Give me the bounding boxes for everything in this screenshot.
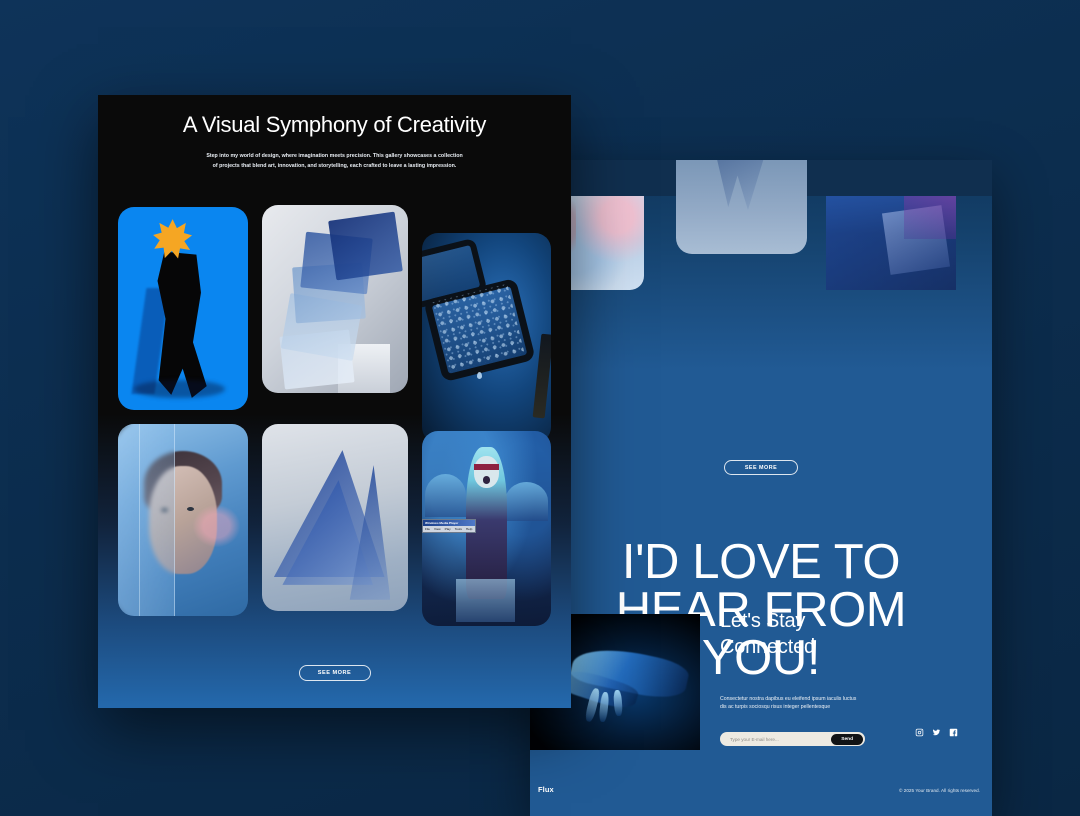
gallery-item-glass-squares[interactable] [262,205,408,393]
gallery-subtitle: Step into my world of design, where imag… [204,152,466,172]
mushroom-shape-left [425,474,466,517]
menu-item-file[interactable]: File [425,527,430,531]
send-button[interactable]: Send [831,734,863,745]
pedestal-base [456,579,515,622]
media-player-menubar[interactable]: File View Play Tools Help [423,526,475,532]
gallery-item-wet-sunglasses[interactable] [422,233,551,443]
gallery-panel: A Visual Symphony of Creativity Step int… [98,95,571,708]
menu-item-help[interactable]: Help [466,527,472,531]
stay-connected-block: Let's Stay Connected Consectetur nostra … [720,608,975,712]
contact-footer: Flux © 2025 Your Brand. All rights reser… [530,760,992,816]
thumb-abstract[interactable] [676,160,807,254]
mockup-stage: SEE MORE I'D LOVE TO HEAR FROM YOU! Let'… [0,0,1080,816]
facebook-icon[interactable] [949,728,958,737]
glass-seam-line [139,424,140,616]
menu-item-tools[interactable]: Tools [455,527,462,531]
stay-connected-body: Consectetur nostra dapibus eu eleifend i… [720,695,860,712]
hero-line-1: I'D LOVE TO [622,535,900,589]
sunglasses-temple-arm [532,333,551,418]
glass-square-1 [328,212,403,281]
instagram-icon[interactable] [915,728,924,737]
subscribe-form[interactable]: Send [720,732,865,746]
frosted-glass-pane [118,424,175,616]
figure-eye-band [474,464,500,470]
stay-connected-heading-line-2: Connected [720,636,815,658]
mushroom-shape-right [505,482,549,521]
contact-panel-thumbnail-row [530,196,992,300]
see-more-button-gallery[interactable]: SEE MORE [299,665,371,681]
contact-panel: SEE MORE I'D LOVE TO HEAR FROM YOU! Let'… [530,160,992,816]
portrait-color-glow [193,505,240,547]
thumb-collage[interactable] [826,196,956,290]
twitter-icon[interactable] [932,728,941,737]
gallery-page-title: A Visual Symphony of Creativity [98,112,571,138]
figure-mouth [483,476,491,484]
menu-item-play[interactable]: Play [445,527,451,531]
media-player-window[interactable]: Windows Media Player File View Play Tool… [422,519,476,533]
gallery-item-sunburst-figure[interactable] [118,207,248,410]
stay-connected-heading-line-1: Let's Stay [720,610,805,632]
gallery-grid: Windows Media Player File View Play Tool… [118,205,551,645]
footer-brand-logo[interactable]: Flux [538,785,554,794]
gallery-item-surreal-blue-art[interactable]: Windows Media Player File View Play Tool… [422,431,551,626]
social-links [915,728,958,737]
see-more-button-contact[interactable]: SEE MORE [724,460,798,475]
menu-item-view[interactable]: View [434,527,441,531]
figure-ground-shadow [134,380,225,398]
footer-copyright: © 2025 Your Brand. All rights reserved. [899,788,980,793]
gallery-item-blue-triangles[interactable] [262,424,408,611]
gallery-item-portrait-behind-glass[interactable] [118,424,248,616]
email-input[interactable] [722,737,831,742]
stay-connected-heading: Let's Stay Connected [720,608,975,660]
